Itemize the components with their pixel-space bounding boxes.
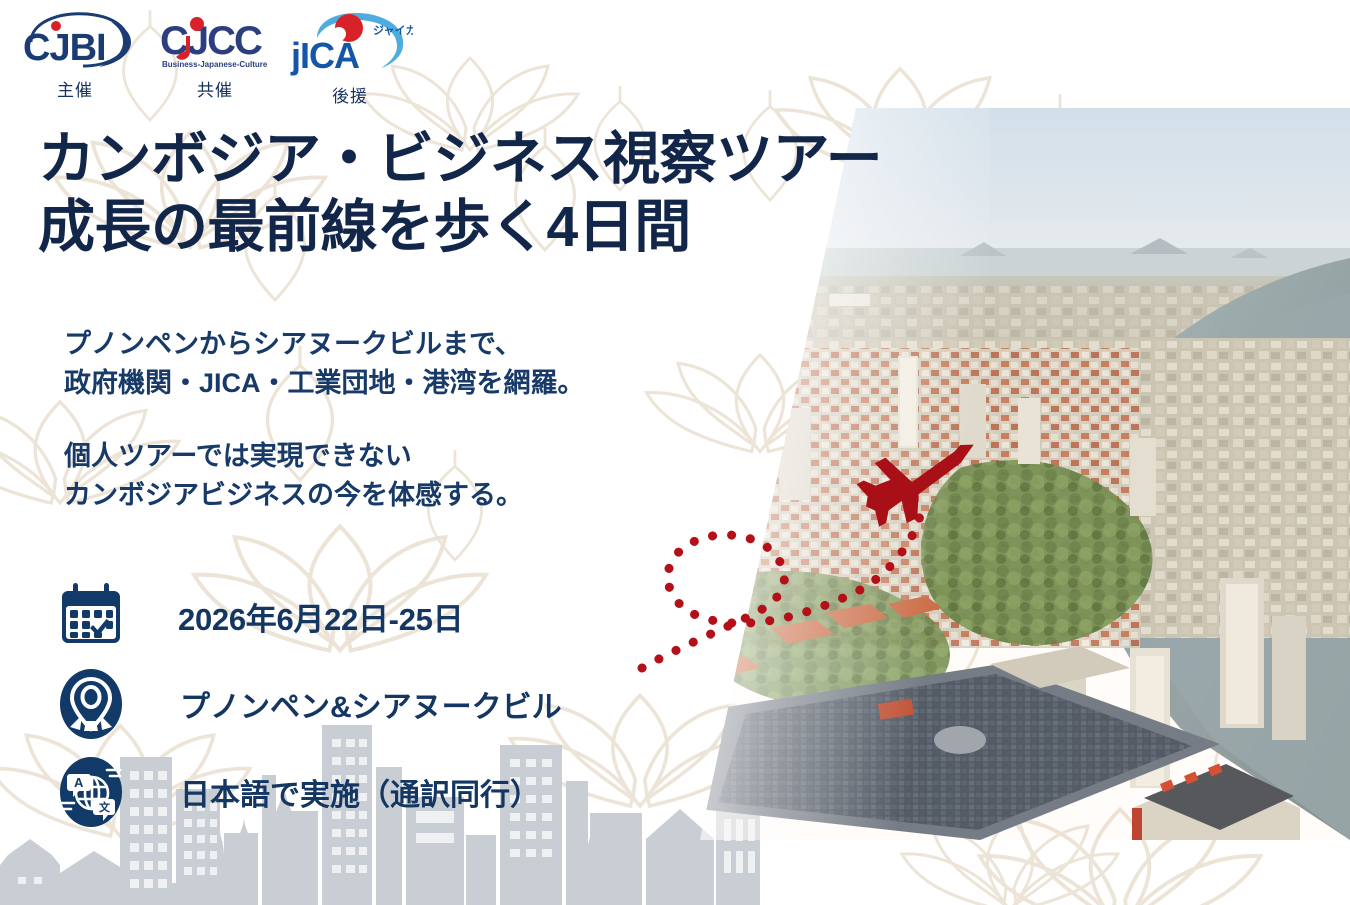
lead-spacer xyxy=(64,403,585,437)
cjcc-tagline: Business-Japanese-Culture xyxy=(162,60,268,69)
jica-logo[interactable]: jICA ジャイカ 後援 xyxy=(280,8,420,107)
info-row-date-label: 2026年6月22日-25日 xyxy=(134,594,463,639)
svg-text:jICA: jICA xyxy=(290,35,360,76)
poster-canvas: CJBI 主催 CJCC Business-Japanese-Culture 共… xyxy=(0,0,1350,905)
jica-logo-caption: 後援 xyxy=(332,82,368,107)
location-pin-icon xyxy=(48,665,134,743)
info-row-date: 2026年6月22日-25日 xyxy=(48,572,562,660)
svg-text:CJBI: CJBI xyxy=(23,27,106,69)
cjbi-logo-mark: CJBI xyxy=(15,8,135,74)
jica-ruby: ジャイカ xyxy=(373,24,413,37)
cjbi-logo[interactable]: CJBI 主催 xyxy=(0,8,150,101)
headline-line-2: 成長の最前線を歩く4日間 xyxy=(38,194,882,262)
translate-globe-icon: A 文 xyxy=(48,753,134,831)
lead-block1-line1: プノンペンからシアヌークビルまで、 xyxy=(64,325,585,364)
info-row-language: A 文 日本語で実施（通訳同行） xyxy=(48,748,562,836)
headline-line-1: カンボジア・ビジネス視察ツアー xyxy=(38,126,882,194)
svg-text:文: 文 xyxy=(99,800,111,814)
info-row-language-label: 日本語で実施（通訳同行） xyxy=(134,770,540,814)
info-row-location: プノンペン&シアヌークビル xyxy=(48,660,562,748)
lead-copy: プノンペンからシアヌークビルまで、 政府機関・JICA・工業団地・港湾を網羅。 … xyxy=(64,325,585,516)
lead-block1-line2: 政府機関・JICA・工業団地・港湾を網羅。 xyxy=(64,364,585,403)
sponsor-logos: CJBI 主催 CJCC Business-Japanese-Culture 共… xyxy=(0,8,420,108)
cjbi-logo-caption: 主催 xyxy=(57,76,93,101)
svg-text:CJCC: CJCC xyxy=(160,19,262,63)
calendar-check-icon xyxy=(48,577,134,655)
cjcc-logo-mark: CJCC Business-Japanese-Culture xyxy=(156,8,274,74)
svg-text:A: A xyxy=(74,775,84,790)
info-row-location-label: プノンペン&シアヌークビル xyxy=(134,682,562,726)
jica-logo-mark: jICA ジャイカ xyxy=(287,8,413,80)
cjcc-logo-caption: 共催 xyxy=(197,76,233,101)
lead-block2-line1: 個人ツアーでは実現できない xyxy=(64,437,585,476)
headline: カンボジア・ビジネス視察ツアー 成長の最前線を歩く4日間 xyxy=(38,126,882,262)
lead-block2-line2: カンボジアビジネスの今を体感する。 xyxy=(64,476,585,515)
cjcc-logo[interactable]: CJCC Business-Japanese-Culture 共催 xyxy=(150,8,280,101)
info-list: 2026年6月22日-25日 プノンペン&シアヌークビル xyxy=(48,572,562,836)
